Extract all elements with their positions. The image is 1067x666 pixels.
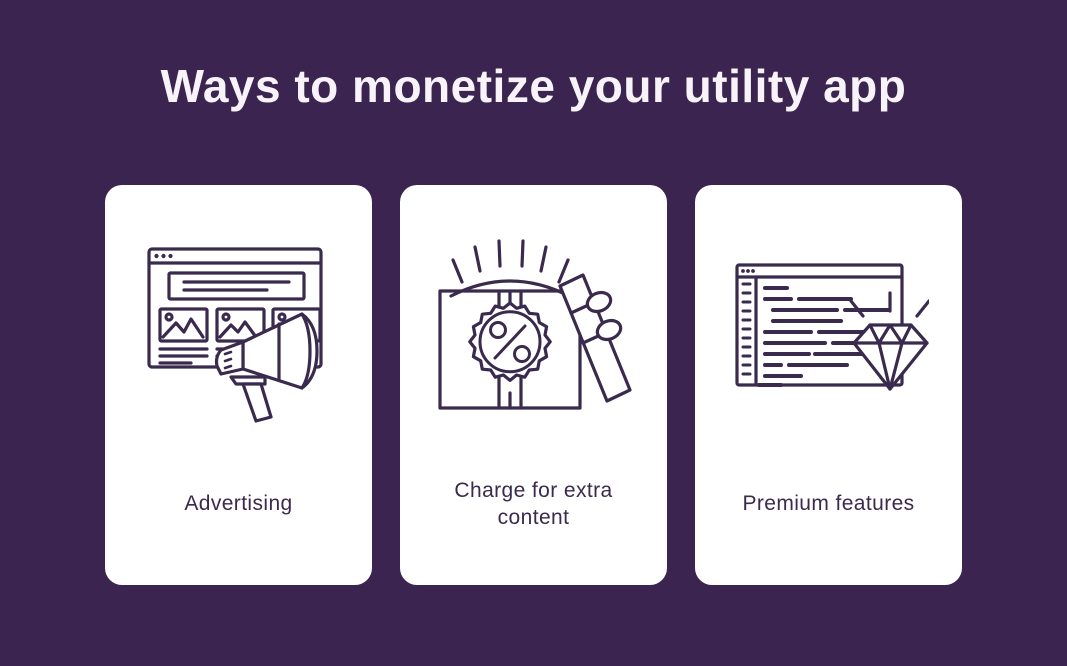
percent-badge — [470, 303, 550, 380]
slide-canvas: Ways to monetize your utility app — [0, 0, 1067, 666]
megaphone — [216, 314, 317, 421]
shine-rays — [453, 241, 568, 282]
gutter-dashes — [743, 284, 750, 374]
gift-roll — [560, 275, 630, 401]
diamond — [854, 325, 927, 389]
card-label: Advertising — [123, 490, 354, 517]
card-label: Charge for extra content — [418, 477, 649, 531]
card-grid: Advertising — [105, 185, 962, 585]
advertising-artwork — [105, 185, 372, 475]
premium-features-artwork — [695, 185, 962, 475]
charge-extra-content-artwork — [400, 185, 667, 475]
code-window-with-diamond-icon — [729, 255, 929, 405]
headline-lines — [169, 273, 304, 299]
sparkle-rays — [851, 293, 929, 316]
card-advertising[interactable]: Advertising — [105, 185, 372, 585]
card-premium-features[interactable]: Premium features — [695, 185, 962, 585]
text-lines — [160, 349, 223, 363]
gift-box-with-percent-badge-icon — [431, 230, 636, 430]
card-label: Premium features — [713, 490, 944, 517]
card-charge-for-extra-content[interactable]: Charge for extra content — [400, 185, 667, 585]
page-title: Ways to monetize your utility app — [0, 58, 1067, 114]
browser-window-with-megaphone-icon — [139, 235, 339, 425]
